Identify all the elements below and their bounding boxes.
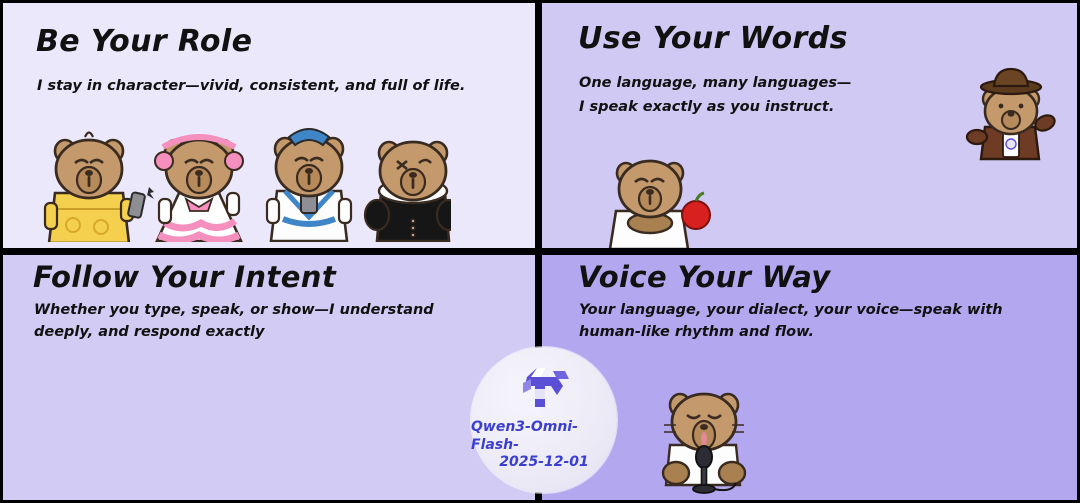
panel-title-voice-your-way: Voice Your Way [578,263,831,292]
panel-subtitle-line2: I speak exactly as you instruct. [579,98,834,117]
bear-yellow-robe-phone [45,133,154,243]
bear-singing-microphone [650,371,760,500]
panel-subtitle-be-your-role: I stay in character—vivid, consistent, a… [37,77,465,96]
badge-line-2: 2025-12-01 [499,454,589,472]
panel-title-be-your-role: Be Your Role [36,27,252,57]
panel-use-your-words: Use Your Words One language, many langua… [542,3,1077,248]
panel-subtitle-line1: Your language, your dialect, your voice—… [579,301,1003,320]
badge-line-1: Qwen3-Omni-Flash- [471,419,617,454]
panel-voice-your-way: Voice Your Way Your language, your diale… [542,255,1077,500]
panel-subtitle-line2: human-like rhythm and flow. [579,323,814,342]
bear-pink-lolita-dress [155,137,243,241]
panel-subtitle-line1: One language, many languages— [579,74,852,93]
bear-lab-coat-apple [594,133,714,248]
qwen-logo-icon [513,359,575,417]
bear-black-ruff-collar [365,142,451,241]
panel-subtitle-line1: Whether you type, speak, or show—I under… [34,301,434,320]
panel-title-use-your-words: Use Your Words [578,24,848,54]
bear-white-blue-hanbok [267,129,351,241]
panel-subtitle-line2: deeply, and respond exactly [34,323,264,342]
role-bear-cast [31,107,451,242]
bear-fedora-detective [957,61,1067,166]
panel-be-your-role: Be Your Role I stay in character—vivid, … [3,3,535,248]
panel-title-follow-your-intent: Follow Your Intent [33,263,336,292]
panel-follow-your-intent: Follow Your Intent Whether you type, spe… [3,255,535,500]
model-badge: Qwen3-Omni-Flash- 2025-12-01 [471,347,617,493]
infographic-board: Be Your Role I stay in character—vivid, … [0,0,1080,503]
